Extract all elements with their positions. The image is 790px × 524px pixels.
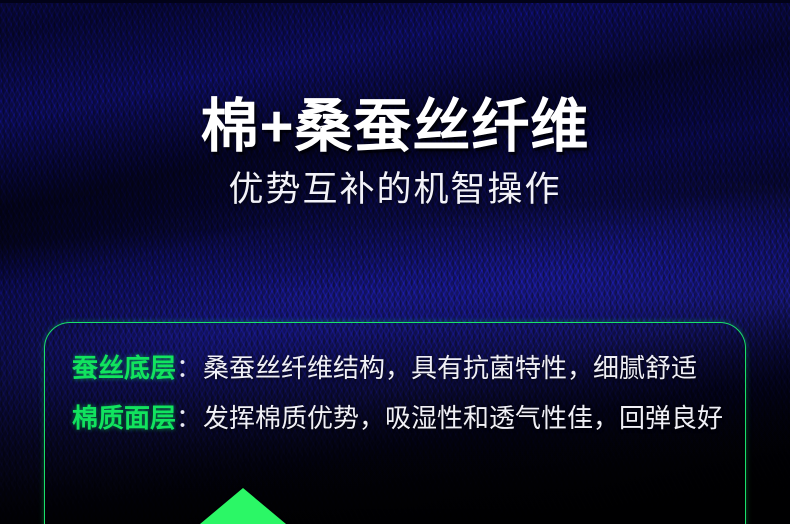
feature-colon: ： (176, 398, 202, 435)
feature-label-cotton-face: 棉质面层 (72, 398, 176, 435)
list-item: 棉质面层 ： 发挥棉质优势，吸湿性和透气性佳，回弹良好 (72, 398, 762, 435)
feature-colon: ： (176, 348, 202, 385)
feature-label-silk-base: 蚕丝底层 (72, 348, 176, 385)
headline-block: 棉+桑蚕丝纤维 优势互补的机智操作 (0, 96, 790, 210)
top-edge-strip (0, 0, 790, 3)
product-detail-poster: 棉+桑蚕丝纤维 优势互补的机智操作 蚕丝底层 ： 桑蚕丝纤维结构，具有抗菌特性，… (0, 0, 790, 524)
page-subtitle: 优势互补的机智操作 (0, 171, 790, 210)
list-item: 蚕丝底层 ： 桑蚕丝纤维结构，具有抗菌特性，细腻舒适 (72, 348, 762, 385)
feature-description-cotton-face: 发挥棉质优势，吸湿性和透气性佳，回弹良好 (203, 398, 723, 435)
feature-description-silk-base: 桑蚕丝纤维结构，具有抗菌特性，细腻舒适 (203, 348, 697, 385)
feature-list: 蚕丝底层 ： 桑蚕丝纤维结构，具有抗菌特性，细腻舒适 棉质面层 ： 发挥棉质优势… (72, 348, 762, 448)
page-title: 棉+桑蚕丝纤维 (0, 96, 790, 157)
triangle-up-icon (200, 488, 286, 524)
